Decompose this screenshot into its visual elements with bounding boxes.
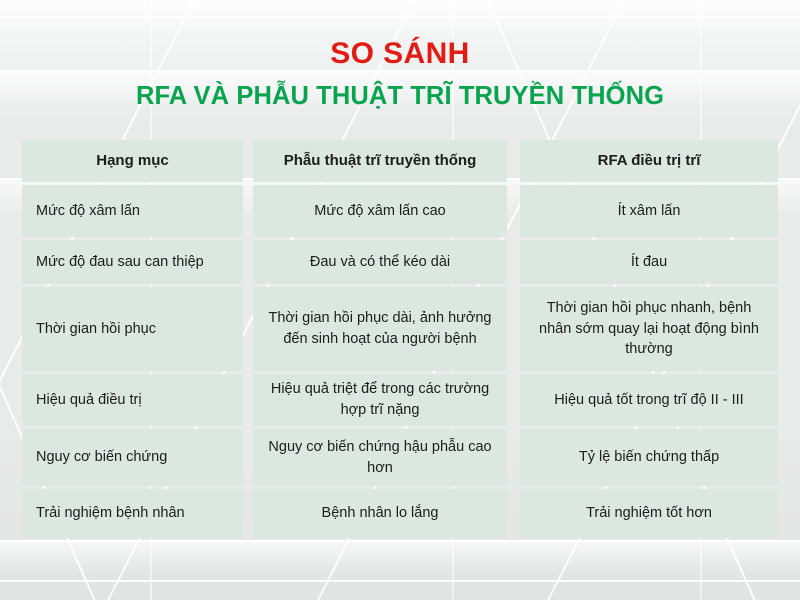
row-traditional-cell: Nguy cơ biến chứng hậu phẫu cao hơn [253,429,507,486]
row-item-cell: Trải nghiệm bệnh nhân [22,489,243,538]
row-traditional-cell: Mức độ xâm lấn cao [253,185,507,237]
row-rfa-cell: Ít đau [520,240,778,284]
row-traditional-cell: Bệnh nhân lo lắng [253,489,507,538]
row-rfa-value: Hiệu quả tốt trong trĩ độ II - III [532,390,766,411]
row-traditional-value: Hiệu quả triệt để trong các trường hợp t… [265,379,495,420]
row-item-label: Mức độ xâm lấn [36,201,243,222]
row-rfa-cell: Hiệu quả tốt trong trĩ độ II - III [520,374,778,426]
column-header-traditional: Phẫu thuật trĩ truyền thống [253,140,507,182]
column-header-traditional-label: Phẫu thuật trĩ truyền thống [265,150,495,171]
row-traditional-cell: Đau và có thể kéo dài [253,240,507,284]
comparison-table: Hạng mục Phẫu thuật trĩ truyền thống RFA… [22,140,778,538]
row-rfa-value: Ít xâm lấn [532,201,766,222]
column-header-rfa: RFA điều trị trĩ [520,140,778,182]
table-row: Thời gian hồi phục Thời gian hồi phục dà… [22,287,778,371]
table-row: Mức độ đau sau can thiệp Đau và có thể k… [22,240,778,284]
column-header-item-label: Hạng mục [22,150,243,171]
comparison-infographic: SO SÁNH RFA VÀ PHẪU THUẬT TRĨ TRUYỀN THỐ… [0,0,800,600]
row-item-label: Thời gian hồi phục [36,319,243,340]
row-rfa-value: Thời gian hồi phục nhanh, bệnh nhân sớm … [532,298,766,360]
row-rfa-value: Tỷ lệ biến chứng thấp [532,447,766,468]
table-header-row: Hạng mục Phẫu thuật trĩ truyền thống RFA… [22,140,778,182]
row-item-label: Nguy cơ biến chứng [36,447,243,468]
title-block: SO SÁNH RFA VÀ PHẪU THUẬT TRĨ TRUYỀN THỐ… [0,38,800,110]
row-item-label: Trải nghiệm bệnh nhân [36,503,243,524]
row-item-label: Hiệu quả điều trị [36,390,243,411]
row-rfa-value: Ít đau [532,252,766,273]
row-traditional-cell: Hiệu quả triệt để trong các trường hợp t… [253,374,507,426]
row-traditional-value: Thời gian hồi phục dài, ảnh hưởng đến si… [265,308,495,349]
row-item-cell: Thời gian hồi phục [22,287,243,371]
row-item-label: Mức độ đau sau can thiệp [36,252,243,273]
row-traditional-value: Bệnh nhân lo lắng [265,503,495,524]
row-rfa-cell: Tỷ lệ biến chứng thấp [520,429,778,486]
row-rfa-cell: Ít xâm lấn [520,185,778,237]
column-header-item: Hạng mục [22,140,243,182]
row-item-cell: Mức độ đau sau can thiệp [22,240,243,284]
row-traditional-cell: Thời gian hồi phục dài, ảnh hưởng đến si… [253,287,507,371]
row-item-cell: Hiệu quả điều trị [22,374,243,426]
column-header-rfa-label: RFA điều trị trĩ [532,150,766,171]
row-item-cell: Nguy cơ biến chứng [22,429,243,486]
page-subtitle: RFA VÀ PHẪU THUẬT TRĨ TRUYỀN THỐNG [0,82,800,110]
page-title: SO SÁNH [0,38,800,70]
row-rfa-cell: Thời gian hồi phục nhanh, bệnh nhân sớm … [520,287,778,371]
row-rfa-value: Trải nghiệm tốt hơn [532,503,766,524]
table-row: Mức độ xâm lấn Mức độ xâm lấn cao Ít xâm… [22,185,778,237]
row-rfa-cell: Trải nghiệm tốt hơn [520,489,778,538]
table-row: Hiệu quả điều trị Hiệu quả triệt để tron… [22,374,778,426]
row-traditional-value: Mức độ xâm lấn cao [265,201,495,222]
row-traditional-value: Nguy cơ biến chứng hậu phẫu cao hơn [265,437,495,478]
row-traditional-value: Đau và có thể kéo dài [265,252,495,273]
table-row: Nguy cơ biến chứng Nguy cơ biến chứng hậ… [22,429,778,486]
row-item-cell: Mức độ xâm lấn [22,185,243,237]
table-row: Trải nghiệm bệnh nhân Bệnh nhân lo lắng … [22,489,778,538]
